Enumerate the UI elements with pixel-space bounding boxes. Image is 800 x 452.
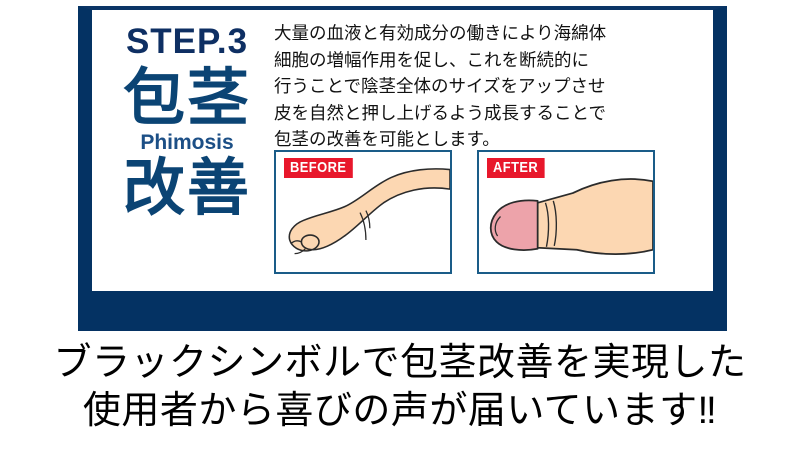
condition-title-jp: 包茎 <box>92 67 282 130</box>
improvement-title-jp: 改善 <box>92 157 282 220</box>
step-section-frame: STEP.3 包茎 Phimosis 改善 大量の血液と有効成分の働きにより海綿… <box>78 6 727 331</box>
step-content-column: 大量の血液と有効成分の働きにより海綿体 細胞の増幅作用を促し、これを断続的に 行… <box>274 10 713 291</box>
before-after-comparison: BEFORE AFTER <box>274 150 684 274</box>
bottom-caption: ブラックシンボルで包茎改善を実現した 使用者から喜びの声が届いています‼ <box>0 340 800 436</box>
after-badge: AFTER <box>487 158 544 178</box>
step-heading-column: STEP.3 包茎 Phimosis 改善 <box>92 10 282 291</box>
after-panel: AFTER <box>477 150 655 274</box>
condition-title-en: Phimosis <box>92 132 282 153</box>
before-panel: BEFORE <box>274 150 452 274</box>
caption-line-1: ブラックシンボルで包茎改善を実現した <box>0 340 800 388</box>
description-paragraph: 大量の血液と有効成分の働きにより海綿体 細胞の増幅作用を促し、これを断続的に 行… <box>274 20 713 153</box>
caption-line-2: 使用者から喜びの声が届いています‼ <box>0 388 800 436</box>
before-badge: BEFORE <box>284 158 352 178</box>
step-frame-inner: STEP.3 包茎 Phimosis 改善 大量の血液と有効成分の働きにより海綿… <box>92 10 713 291</box>
step-number-label: STEP.3 <box>92 24 282 59</box>
